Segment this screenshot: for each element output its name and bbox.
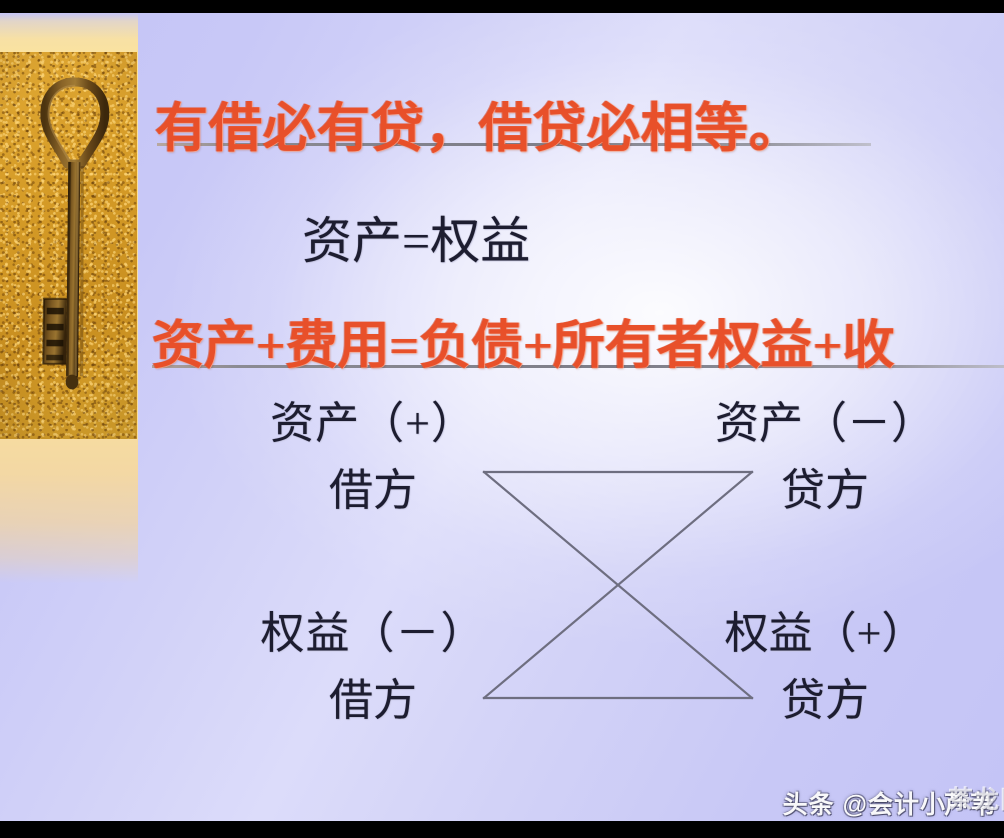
equation-expanded: 资产+费用=负债+所有者权益+收 bbox=[152, 303, 895, 378]
antique-key-photo bbox=[0, 52, 137, 439]
quadrant-top-right: 资产（－） 贷方 bbox=[700, 391, 950, 525]
quadrant-top-left-side: 借方 bbox=[248, 458, 498, 525]
quadrant-top-right-side: 贷方 bbox=[700, 458, 950, 525]
slide-headline: 有借必有贷，借贷必相等。 bbox=[155, 86, 803, 162]
watermark-prefix: 头条 @会计小 bbox=[783, 791, 946, 819]
quadrant-top-left-account: 资产（+） bbox=[270, 399, 476, 448]
slide-stage: 有借必有贷，借贷必相等。 资产=权益 资产+费用=负债+所有者权益+收 资产（+… bbox=[0, 0, 1004, 838]
quadrant-bottom-left-side: 借方 bbox=[248, 668, 498, 735]
quadrant-bottom-left-account: 权益（－） bbox=[261, 609, 486, 658]
quadrant-bottom-right: 权益（+） 贷方 bbox=[700, 601, 950, 735]
quadrant-bottom-left: 权益（－） 借方 bbox=[248, 601, 498, 735]
quadrant-top-right-account: 资产（－） bbox=[715, 399, 935, 448]
quadrant-bottom-right-account: 权益（+） bbox=[725, 609, 926, 658]
watermark-ghost-text: 茶龙网位 bbox=[948, 780, 1004, 816]
watermark: 头条 @会计小茶龙网位芦苇 bbox=[783, 785, 996, 821]
letterbox-bar-top bbox=[0, 0, 1004, 13]
equation-assets-equals-equities: 资产=权益 bbox=[302, 201, 530, 273]
quadrant-top-left: 资产（+） 借方 bbox=[248, 391, 498, 525]
quadrant-bottom-right-side: 贷方 bbox=[700, 668, 950, 735]
letterbox-bar-bottom bbox=[0, 821, 1004, 838]
key-icon bbox=[34, 74, 112, 420]
watermark-overlap: 茶龙网位芦苇 bbox=[944, 785, 996, 821]
presentation-slide: 有借必有贷，借贷必相等。 资产=权益 资产+费用=负债+所有者权益+收 资产（+… bbox=[0, 13, 1004, 821]
